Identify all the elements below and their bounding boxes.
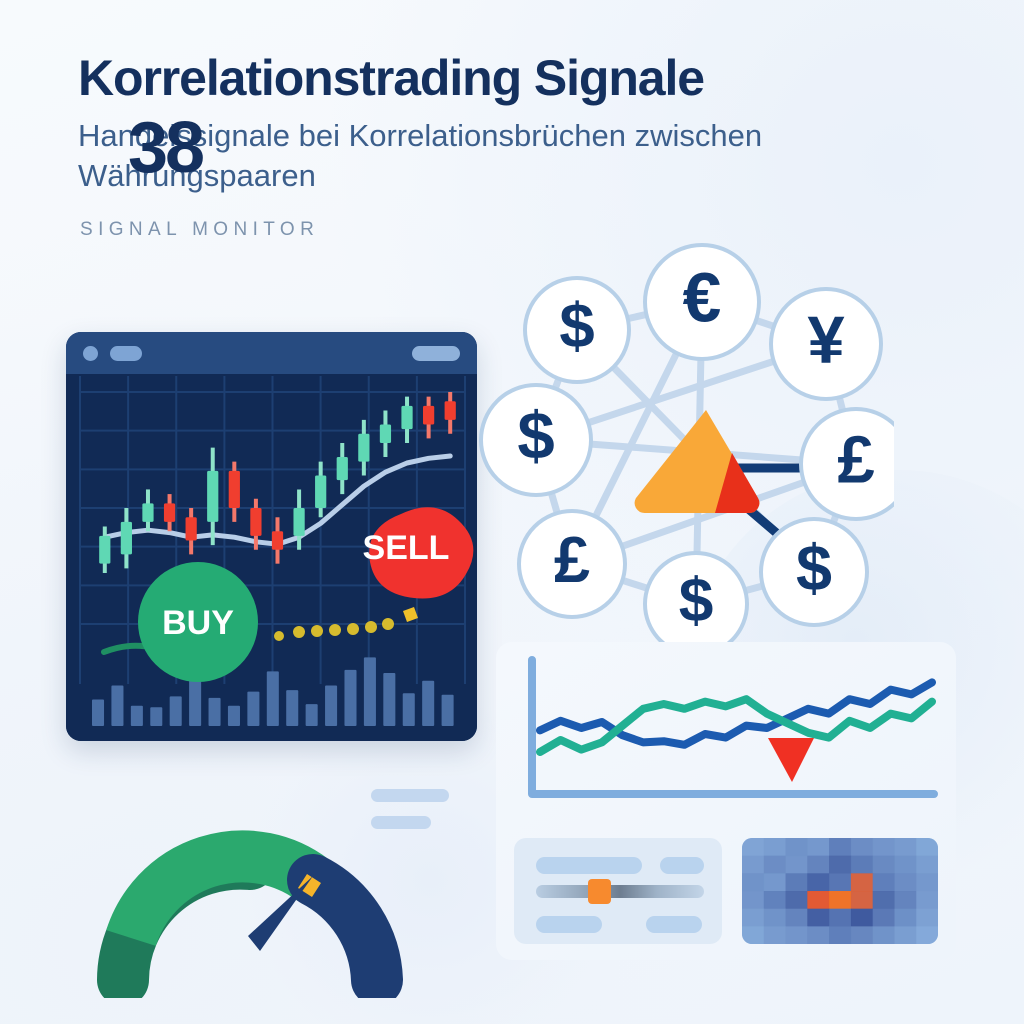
control-pill-icon[interactable] — [412, 346, 460, 361]
node-yen[interactable]: ¥ — [771, 289, 881, 399]
currency-symbol-4: $ — [796, 531, 832, 604]
node-pound-left[interactable]: £ — [519, 511, 625, 617]
slider-label-pill-1 — [536, 857, 642, 874]
currency-symbol-3: £ — [837, 423, 874, 498]
node-dollar-top-left[interactable]: $ — [525, 278, 629, 382]
currency-correlation-network: $€¥£$$£$ — [474, 232, 894, 652]
slider-label-pill-4 — [646, 916, 702, 933]
tab-pill-icon[interactable] — [110, 346, 142, 361]
gauge-value-label: 38 — [0, 112, 330, 184]
node-dollar-bottom[interactable]: $ — [645, 553, 747, 652]
slider-label-pill-3 — [536, 916, 602, 933]
divergence-panel — [496, 642, 956, 960]
currency-symbol-6: £ — [554, 523, 590, 596]
gauge-band-high — [313, 880, 377, 980]
currency-symbol-5: $ — [679, 566, 714, 635]
parameter-slider-card[interactable] — [514, 838, 722, 944]
node-pound-right[interactable]: £ — [801, 409, 894, 519]
currency-symbol-7: $ — [517, 399, 554, 474]
gauge-band-mid — [131, 856, 313, 938]
correlation-gauge — [85, 768, 415, 998]
series-line-paar-a — [540, 682, 932, 744]
gauge-legend-bar-1 — [371, 789, 449, 802]
heatmap-cells — [742, 838, 938, 944]
slider-handle[interactable] — [588, 879, 611, 904]
currency-symbol-1: € — [683, 258, 722, 336]
node-dollar-bottom-right[interactable]: $ — [761, 519, 867, 625]
divergence-alert-icon — [768, 738, 814, 782]
divergence-line-chart — [496, 642, 956, 838]
trading-chart-window[interactable]: BUY SELL — [66, 332, 477, 741]
currency-symbol-0: $ — [559, 292, 594, 362]
node-euro[interactable]: € — [645, 245, 759, 359]
currency-symbol-2: ¥ — [807, 303, 845, 378]
slider-label-pill-2 — [660, 857, 704, 874]
poster-canvas: Korrelationstrading Signale Handelssigna… — [0, 0, 1024, 1024]
window-dot-icon[interactable] — [83, 346, 98, 361]
node-dollar-left[interactable]: $ — [481, 385, 591, 495]
slider-track[interactable] — [536, 885, 704, 898]
correlation-break-alert[interactable] — [635, 410, 760, 513]
gauge-legend-bar-2 — [371, 816, 431, 829]
candlestick-chart — [66, 374, 477, 741]
correlation-heatmap[interactable] — [742, 838, 938, 944]
window-titlebar — [66, 332, 477, 374]
page-title: Korrelationstrading Signale — [78, 52, 958, 104]
